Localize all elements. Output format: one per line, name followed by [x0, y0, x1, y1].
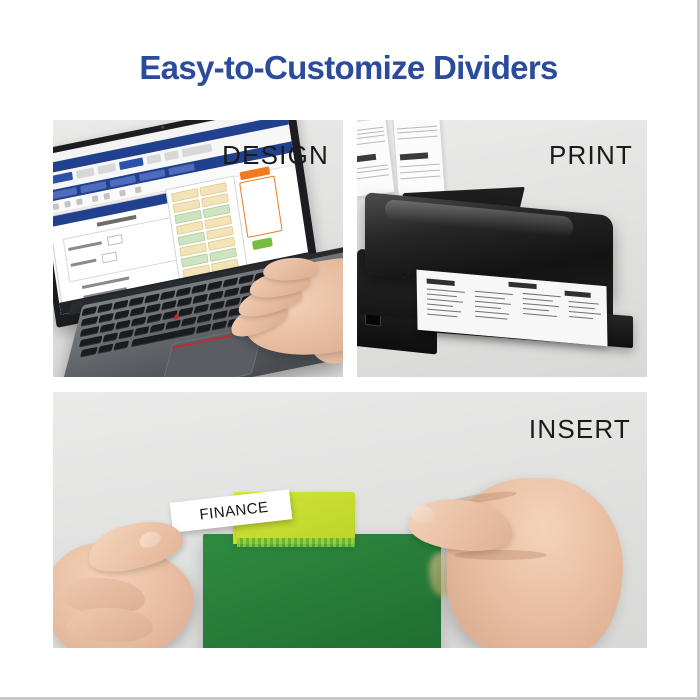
- ribbon-chip: [182, 143, 213, 157]
- printer-illustration: [357, 138, 647, 377]
- ribbon-chip: [119, 157, 144, 170]
- ribbon-chip: [53, 172, 73, 185]
- lid-highlight: [385, 199, 573, 238]
- panel-label-design: DESIGN: [222, 140, 329, 171]
- toolbar-icon: [135, 186, 142, 193]
- divider-tab-stitching: [237, 538, 355, 547]
- panel-label-insert: INSERT: [529, 414, 631, 445]
- toolbar-icon: [76, 198, 83, 205]
- dialog-fieldset: [63, 217, 179, 283]
- ribbon-chip: [97, 163, 116, 175]
- panel-print: PRINT: [357, 120, 647, 377]
- template-thumbnail[interactable]: [239, 175, 283, 238]
- ribbon-chip: [146, 154, 161, 165]
- toolbar-icon: [64, 201, 71, 208]
- panel-insert: FINANCE INSERT: [53, 392, 647, 648]
- page-title: Easy-to-Customize Dividers: [0, 49, 697, 87]
- toolbar-icon: [92, 195, 99, 202]
- webcam-dot: [161, 126, 164, 130]
- toolbar-icon: [119, 189, 126, 196]
- ribbon-chip: [164, 150, 179, 161]
- ribbon-chip: [76, 167, 95, 179]
- toolbar-icon: [103, 193, 110, 200]
- left-hand: [53, 518, 233, 648]
- product-image-card: Easy-to-Customize Dividers: [0, 0, 700, 700]
- panel-design: DESIGN: [53, 120, 343, 377]
- panel-label-print: PRINT: [549, 140, 633, 171]
- input-paper-sheet: [392, 120, 445, 198]
- skin-crease: [455, 550, 547, 560]
- right-hand: [403, 454, 623, 648]
- toolbar-icon: [53, 203, 59, 210]
- hand-on-touchpad: [221, 244, 343, 377]
